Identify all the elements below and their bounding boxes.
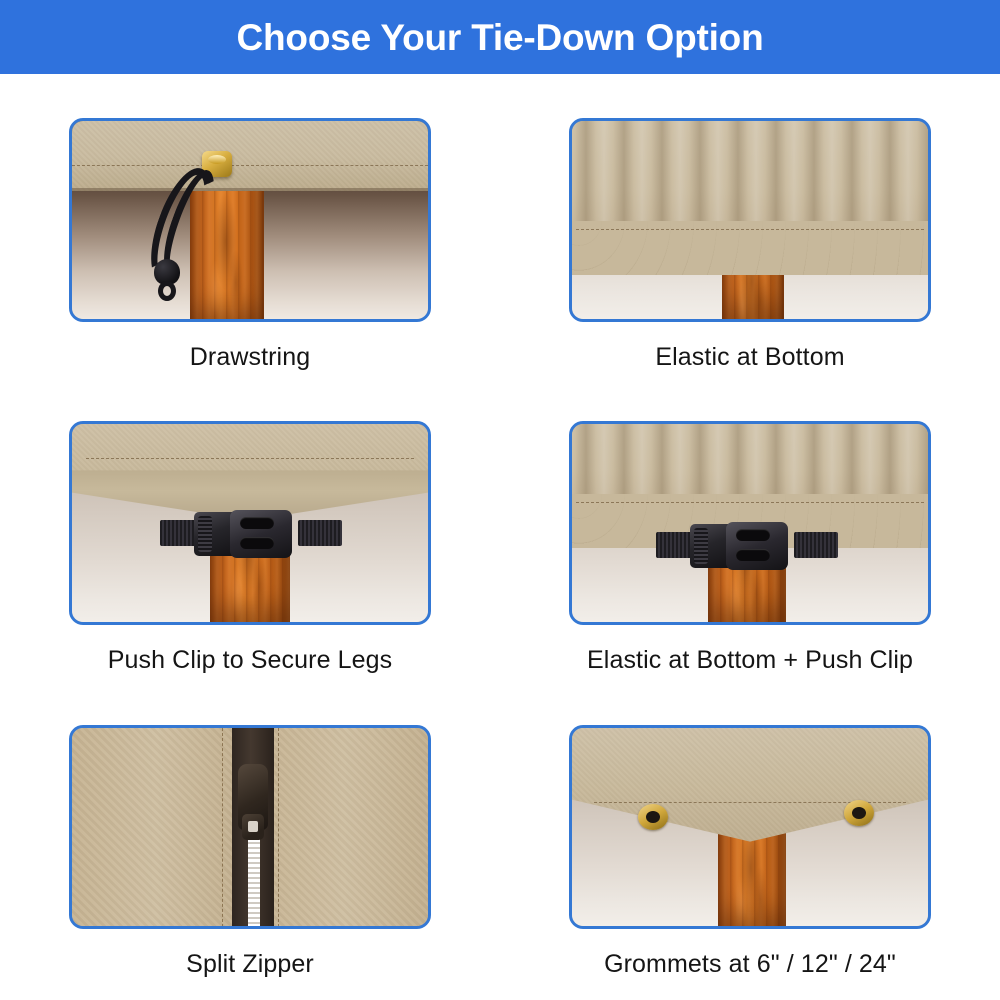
option-card-grommets[interactable] xyxy=(569,725,931,929)
split-zipper-photo xyxy=(72,728,428,926)
page-root: Choose Your Tie-Down Option Drawstring xyxy=(0,0,1000,1000)
edge-stitch-line xyxy=(86,458,414,459)
hem-stitch-line xyxy=(72,165,428,166)
elastic-bottom-photo xyxy=(572,121,928,319)
option-caption-grommets: Grommets at 6" / 12" / 24" xyxy=(604,950,896,979)
option-card-split-zipper[interactable] xyxy=(69,725,431,929)
options-grid: Drawstring Elastic at Bottom xyxy=(0,74,1000,1000)
fabric-panel-left xyxy=(72,728,244,926)
option-cell-drawstring: Drawstring xyxy=(0,84,500,387)
page-title: Choose Your Tie-Down Option xyxy=(237,19,764,56)
drawstring-photo xyxy=(72,121,428,319)
option-caption-elastic-push-clip: Elastic at Bottom + Push Clip xyxy=(587,646,913,675)
option-caption-split-zipper: Split Zipper xyxy=(186,950,314,979)
header-banner: Choose Your Tie-Down Option xyxy=(0,0,1000,74)
option-cell-split-zipper: Split Zipper xyxy=(0,691,500,994)
push-clip-buckle xyxy=(690,520,802,574)
brass-grommet-icon xyxy=(844,800,874,826)
grommets-photo xyxy=(572,728,928,926)
elastic-push-clip-photo xyxy=(572,424,928,622)
option-caption-drawstring: Drawstring xyxy=(190,343,310,372)
zipper-stitch-left xyxy=(222,728,230,926)
option-cell-push-clip: Push Clip to Secure Legs xyxy=(0,387,500,690)
option-cell-elastic-push-clip: Elastic at Bottom + Push Clip xyxy=(500,387,1000,690)
option-card-elastic-bottom[interactable] xyxy=(569,118,931,322)
cord-loop xyxy=(158,281,176,301)
option-cell-elastic-bottom: Elastic at Bottom xyxy=(500,84,1000,387)
option-card-elastic-push-clip[interactable] xyxy=(569,421,931,625)
option-caption-elastic-bottom: Elastic at Bottom xyxy=(655,343,844,372)
zipper-stitch-right xyxy=(278,728,286,926)
cover-hem xyxy=(72,121,428,191)
option-card-drawstring[interactable] xyxy=(69,118,431,322)
option-cell-grommets: Grommets at 6" / 12" / 24" xyxy=(500,691,1000,994)
option-caption-push-clip: Push Clip to Secure Legs xyxy=(108,646,393,675)
push-clip-photo xyxy=(72,424,428,622)
option-card-push-clip[interactable] xyxy=(69,421,431,625)
zipper-pull xyxy=(242,814,264,840)
push-clip-buckle xyxy=(194,508,306,562)
brass-grommet-icon xyxy=(638,804,668,830)
